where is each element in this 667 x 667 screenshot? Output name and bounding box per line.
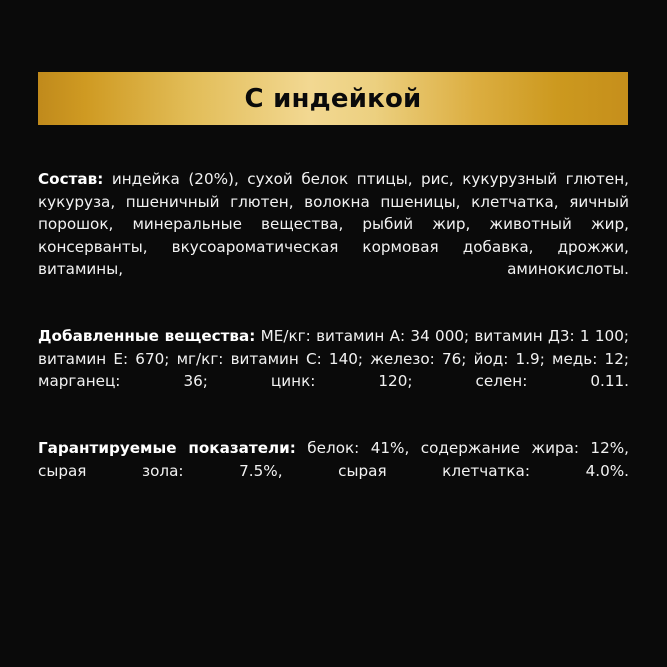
product-flavor-banner: С индейкой <box>38 72 628 125</box>
composition-paragraph: Состав: индейка (20%), сухой белок птицы… <box>38 168 629 303</box>
label-content: Состав: индейка (20%), сухой белок птицы… <box>38 168 629 505</box>
additives-paragraph: Добавленные вещества: МЕ/кг: витамин А: … <box>38 325 629 415</box>
product-label-page: С индейкой Состав: индейка (20%), сухой … <box>0 0 667 667</box>
additives-label: Добавленные вещества: <box>38 327 255 345</box>
composition-text: индейка (20%), сухой белок птицы, рис, к… <box>38 170 629 278</box>
guaranteed-analysis-paragraph: Гарантируемые показатели: белок: 41%, со… <box>38 437 629 505</box>
guaranteed-analysis-label: Гарантируемые показатели: <box>38 439 296 457</box>
composition-label: Состав: <box>38 170 103 188</box>
page-title: С индейкой <box>245 86 422 112</box>
